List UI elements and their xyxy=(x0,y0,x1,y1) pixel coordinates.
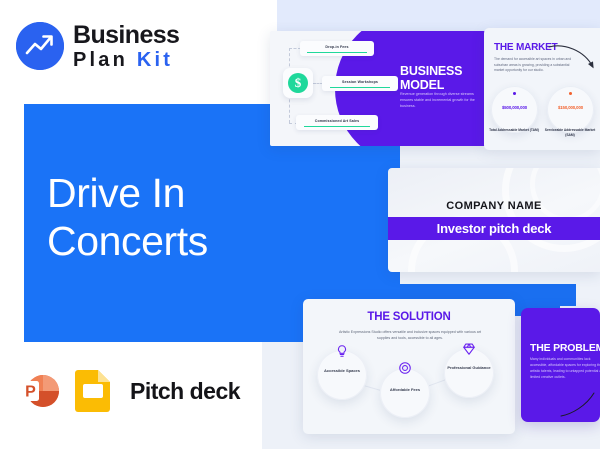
chip-commissioned-art-sales[interactable]: Commissioned Art Sales xyxy=(296,115,378,130)
diamond-icon xyxy=(462,342,476,356)
brand-wordmark: Business Plan Kit xyxy=(73,23,179,70)
google-slides-icon xyxy=(73,369,115,413)
business-model-body: Revenue generation through diverse strea… xyxy=(400,92,480,110)
solution-label-affordable-fees: Affordable Fees xyxy=(380,387,430,393)
brand-logo: Business Plan Kit xyxy=(16,22,179,70)
the-solution-title: THE SOLUTION xyxy=(303,311,515,323)
metric-caption-tam: Total Addressable Market (TAM) xyxy=(486,128,542,133)
brand-line-1: Business xyxy=(73,23,179,48)
metric-value-sam: $150,000,000 xyxy=(547,105,594,110)
metric-value-tam: $500,000,000 xyxy=(491,105,538,110)
dollar-symbol: $ xyxy=(288,73,308,93)
the-problem-title: THE PROBLEM xyxy=(530,342,600,354)
hero-title: Drive In Concerts xyxy=(47,170,347,266)
chip-session-workshops[interactable]: Session Workshops xyxy=(322,76,398,91)
chip-label: Session Workshops xyxy=(322,80,398,84)
the-solution-body: Artistic Expressions Studio offers versa… xyxy=(337,329,483,341)
decorative-curve-icon xyxy=(560,392,600,418)
chip-underline xyxy=(330,87,391,88)
brand-kit: Kit xyxy=(137,49,173,71)
company-name-heading: COMPANY NAME xyxy=(388,200,600,212)
chip-drop-in-fees[interactable]: Drop-in Fees xyxy=(300,41,374,56)
investor-pitch-deck-label: Investor pitch deck xyxy=(388,217,600,240)
the-problem-body: Many individuals and communities lack ac… xyxy=(530,357,600,381)
business-model-title: BUSINESS MODEL xyxy=(400,64,472,92)
chip-label: Commissioned Art Sales xyxy=(296,119,378,123)
dollar-sign-icon: $ xyxy=(283,68,313,98)
svg-text:P: P xyxy=(25,383,36,400)
solution-circle-affordable-fees xyxy=(380,368,430,418)
lightbulb-icon xyxy=(335,344,349,358)
chip-label: Drop-in Fees xyxy=(300,45,374,49)
the-market-body: The demand for accessible art spaces in … xyxy=(494,57,580,74)
chip-underline xyxy=(307,52,366,53)
brand-line-2: Plan Kit xyxy=(73,50,179,70)
chip-underline xyxy=(304,126,370,127)
powerpoint-icon: P xyxy=(18,369,62,413)
coin-icon xyxy=(398,361,412,375)
metric-caption-sam: Serviceable Addressable Market (SAM) xyxy=(542,128,598,137)
investor-pitch-deck-bar: Investor pitch deck xyxy=(388,217,600,240)
pitch-deck-label: Pitch deck xyxy=(130,378,240,405)
solution-label-professional-guidance: Professional Guidance xyxy=(444,365,494,371)
poster-canvas: Drive In Concerts Business Plan Kit $ Dr… xyxy=(0,0,600,449)
solution-label-accessible-spaces: Accessible Spaces xyxy=(317,368,367,374)
trend-arrow-circle-icon xyxy=(16,22,64,70)
brand-plan: Plan xyxy=(73,49,128,71)
format-badges: P Pitch deck xyxy=(18,369,240,413)
